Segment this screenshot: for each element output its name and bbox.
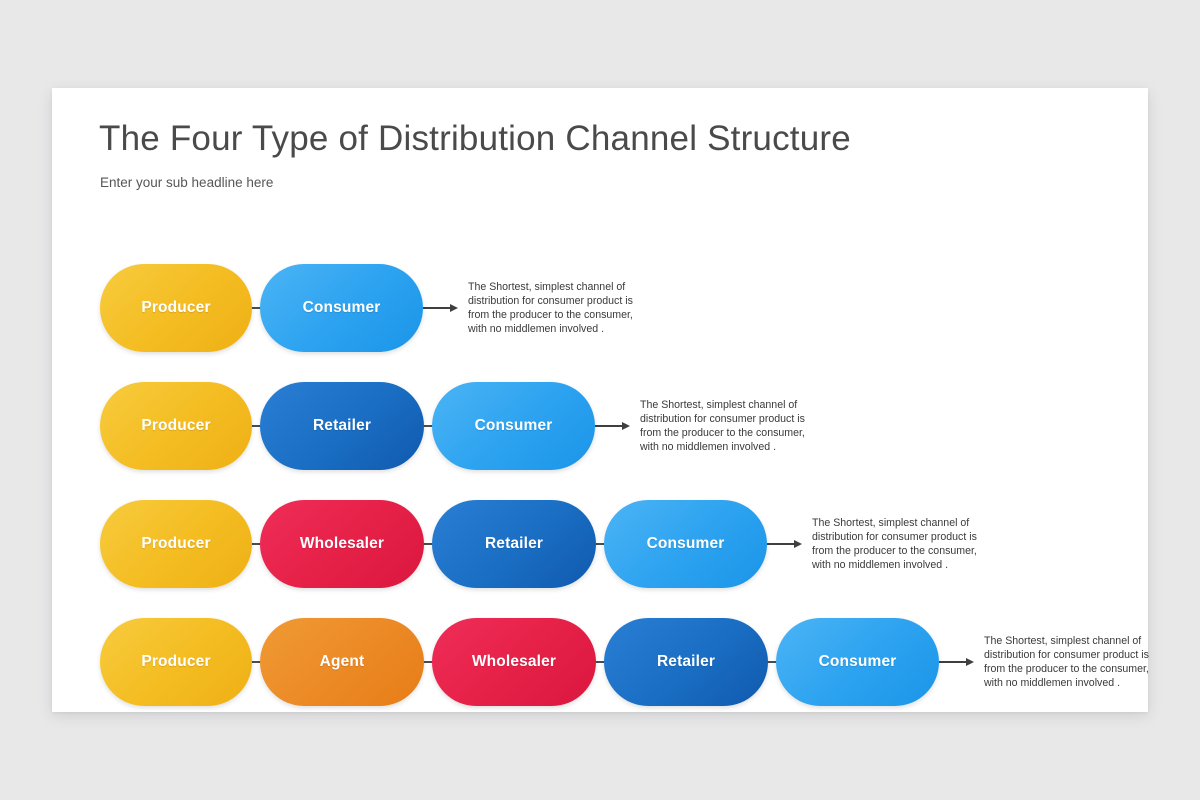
channel-node-label: Retailer bbox=[313, 417, 371, 435]
channel-node-producer[interactable]: Producer bbox=[100, 500, 252, 588]
flow-arrow-icon bbox=[423, 304, 458, 312]
channel-node-consumer[interactable]: Consumer bbox=[604, 500, 767, 588]
channel-node-producer[interactable]: Producer bbox=[100, 382, 252, 470]
channel-node-label: Producer bbox=[141, 417, 210, 435]
channel-node-label: Agent bbox=[320, 653, 365, 671]
channel-row: ProducerRetailerConsumerThe Shortest, si… bbox=[100, 382, 810, 470]
channel-description: The Shortest, simplest channel of distri… bbox=[640, 398, 810, 455]
channel-node-consumer[interactable]: Consumer bbox=[432, 382, 595, 470]
channel-node-label: Consumer bbox=[303, 299, 381, 317]
channel-node-label: Retailer bbox=[485, 535, 543, 553]
arrow-line bbox=[423, 307, 451, 309]
channel-description: The Shortest, simplest channel of distri… bbox=[984, 634, 1154, 691]
channel-node-agent[interactable]: Agent bbox=[260, 618, 424, 706]
page-title: The Four Type of Distribution Channel St… bbox=[99, 119, 851, 159]
page-subtitle: Enter your sub headline here bbox=[100, 175, 273, 190]
arrow-head bbox=[450, 304, 458, 312]
channel-node-retailer[interactable]: Retailer bbox=[604, 618, 768, 706]
channel-node-label: Wholesaler bbox=[472, 653, 556, 671]
channel-node-producer[interactable]: Producer bbox=[100, 618, 252, 706]
arrow-head bbox=[622, 422, 630, 430]
flow-arrow-icon bbox=[767, 540, 802, 548]
channel-node-wholesaler[interactable]: Wholesaler bbox=[432, 618, 596, 706]
channel-node-label: Producer bbox=[141, 653, 210, 671]
slide-card: The Four Type of Distribution Channel St… bbox=[52, 88, 1148, 712]
channel-row: ProducerAgentWholesalerRetailerConsumerT… bbox=[100, 618, 1154, 706]
channel-node-consumer[interactable]: Consumer bbox=[776, 618, 939, 706]
flow-arrow-icon bbox=[939, 658, 974, 666]
channel-node-label: Producer bbox=[141, 299, 210, 317]
channel-node-label: Consumer bbox=[647, 535, 725, 553]
channel-node-consumer[interactable]: Consumer bbox=[260, 264, 423, 352]
channel-node-wholesaler[interactable]: Wholesaler bbox=[260, 500, 424, 588]
arrow-head bbox=[794, 540, 802, 548]
channel-description: The Shortest, simplest channel of distri… bbox=[812, 516, 982, 573]
channel-node-retailer[interactable]: Retailer bbox=[260, 382, 424, 470]
channel-description: The Shortest, simplest channel of distri… bbox=[468, 280, 638, 337]
flow-arrow-icon bbox=[595, 422, 630, 430]
channel-row: ProducerWholesalerRetailerConsumerThe Sh… bbox=[100, 500, 982, 588]
channel-node-producer[interactable]: Producer bbox=[100, 264, 252, 352]
arrow-line bbox=[767, 543, 795, 545]
channel-node-label: Producer bbox=[141, 535, 210, 553]
arrow-line bbox=[939, 661, 967, 663]
channel-node-retailer[interactable]: Retailer bbox=[432, 500, 596, 588]
arrow-line bbox=[595, 425, 623, 427]
channel-node-label: Consumer bbox=[819, 653, 897, 671]
channel-row: ProducerConsumerThe Shortest, simplest c… bbox=[100, 264, 638, 352]
channel-node-label: Wholesaler bbox=[300, 535, 384, 553]
arrow-head bbox=[966, 658, 974, 666]
channel-node-label: Consumer bbox=[475, 417, 553, 435]
channel-node-label: Retailer bbox=[657, 653, 715, 671]
